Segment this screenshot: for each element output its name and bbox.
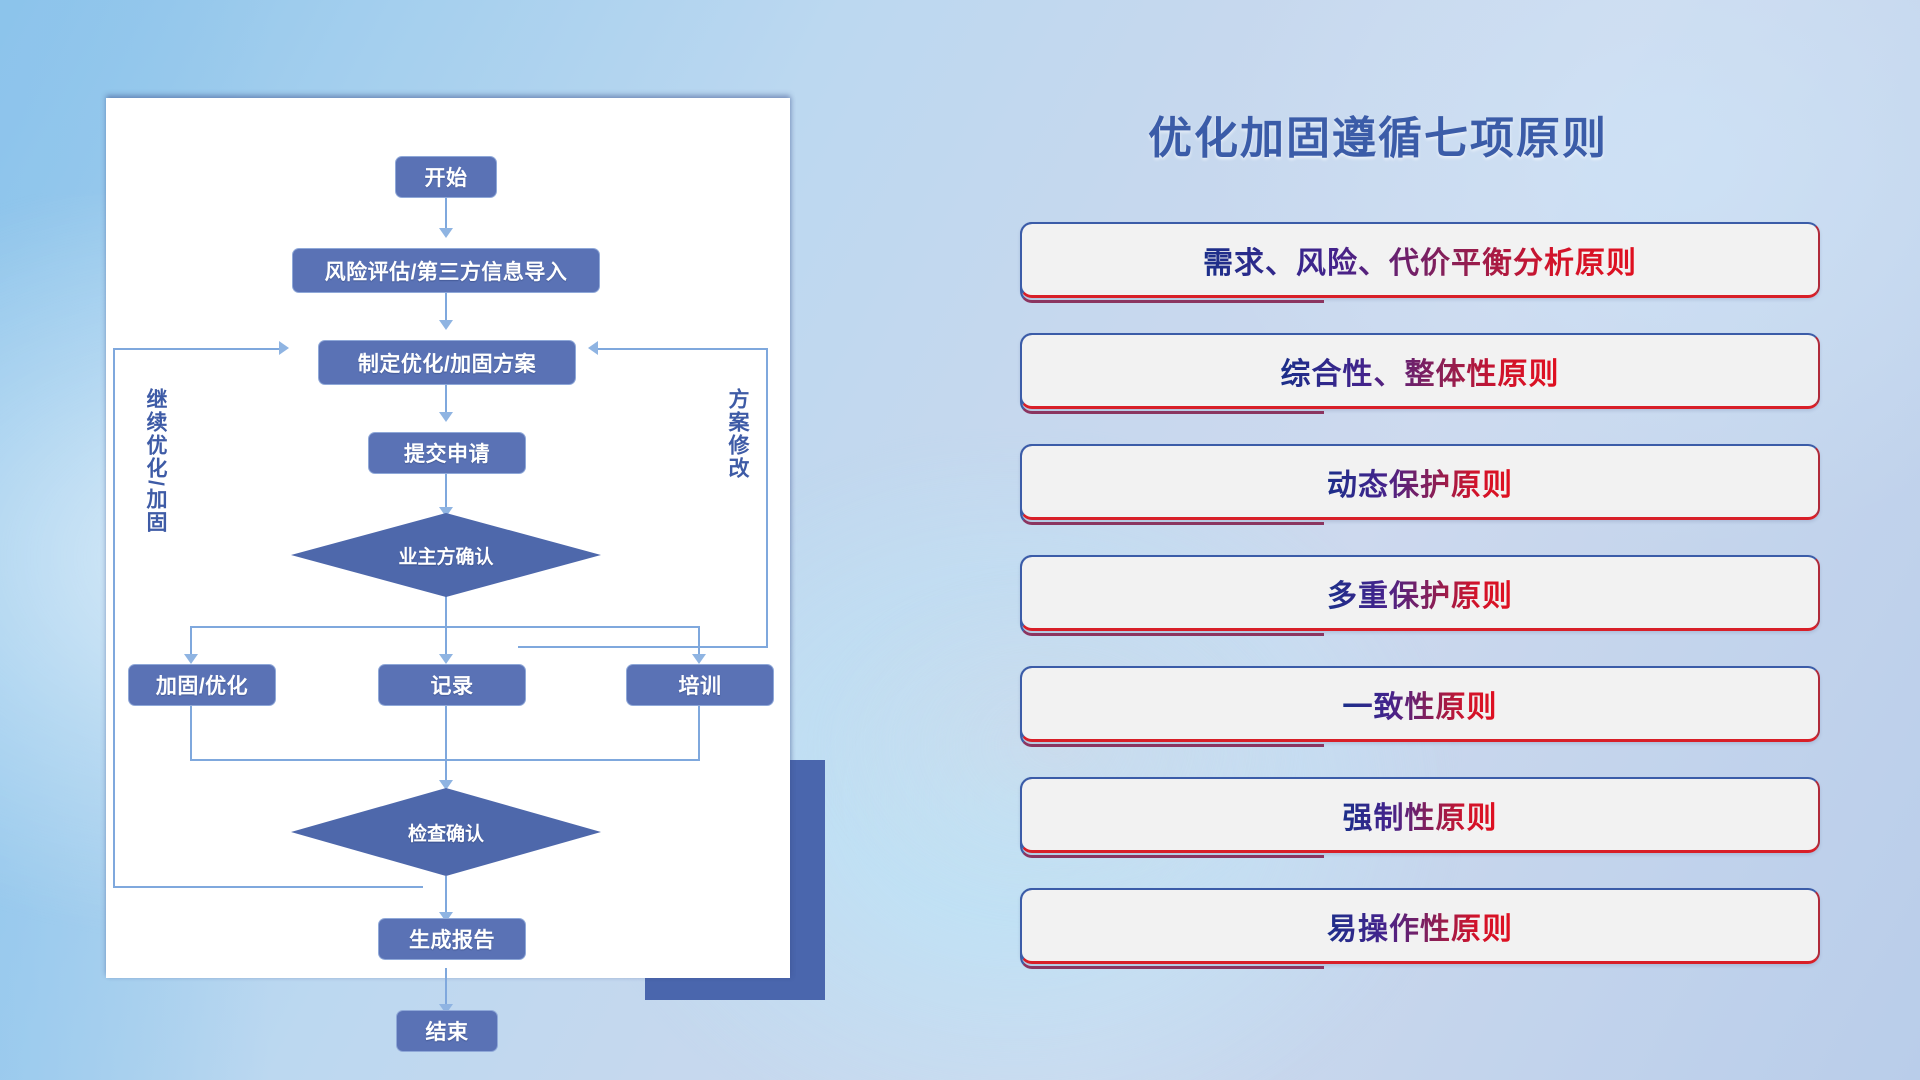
flow-node-plan-label: 制定优化/加固方案	[358, 348, 536, 378]
left-loop-bottom	[113, 886, 423, 888]
principle-item[interactable]: 多重保护原则	[1020, 555, 1820, 631]
panel-title: 优化加固遵循七项原则	[1148, 102, 1608, 166]
slide-root: 继续优化/加固 方案修改 开始	[0, 0, 1920, 1080]
principle-item-label: 一致性原则	[1343, 682, 1498, 726]
principles-list: 需求、风险、代价平衡分析原则 综合性、整体性原则 动态保护原则 多重保护原则 一…	[1020, 222, 1820, 999]
flow-node-risk-assessment[interactable]: 风险评估/第三方信息导入	[292, 248, 600, 293]
flow-node-training-label: 培训	[679, 670, 722, 700]
right-loop-bottom	[518, 646, 768, 648]
arrow-fan-mid-icon	[439, 654, 453, 664]
principle-item-label: 易操作性原则	[1327, 904, 1513, 948]
conn-merge-left	[190, 706, 192, 761]
arrow-start-to-risk-icon	[439, 228, 453, 238]
left-loop-arrow-icon	[279, 341, 289, 355]
flowchart-card: 继续优化/加固 方案修改 开始	[106, 98, 790, 978]
principle-item-label: 强制性原则	[1343, 793, 1498, 837]
left-loop-top	[113, 348, 281, 350]
flow-node-reinforce[interactable]: 加固/优化	[128, 664, 276, 706]
flow-decision-check-confirm[interactable]: 检查确认	[291, 788, 601, 876]
flow-node-plan[interactable]: 制定优化/加固方案	[318, 340, 576, 385]
edge-label-continue-optimize: 继续优化/加固	[140, 388, 170, 534]
flow-node-start-label: 开始	[425, 162, 468, 192]
principle-item-label: 多重保护原则	[1327, 571, 1513, 615]
principle-item-label: 动态保护原则	[1327, 460, 1513, 504]
principles-panel: 优化加固遵循七项原则 需求、风险、代价平衡分析原则 综合性、整体性原则 动态保护…	[1020, 92, 1860, 992]
flow-node-report[interactable]: 生成报告	[378, 918, 526, 960]
principle-item-label: 需求、风险、代价平衡分析原则	[1203, 238, 1637, 282]
flow-node-end[interactable]: 结束	[396, 1010, 498, 1052]
flow-decision-owner-confirm-label: 业主方确认	[398, 542, 493, 569]
flow-decision-owner-confirm[interactable]: 业主方确认	[291, 513, 601, 597]
left-loop-vertical	[113, 348, 115, 888]
flow-node-report-label: 生成报告	[409, 924, 495, 954]
flow-decision-check-confirm-label: 检查确认	[408, 819, 484, 846]
principle-item[interactable]: 易操作性原则	[1020, 888, 1820, 964]
principle-item[interactable]: 强制性原则	[1020, 777, 1820, 853]
principle-item[interactable]: 需求、风险、代价平衡分析原则	[1020, 222, 1820, 298]
principle-item-label: 综合性、整体性原则	[1281, 349, 1560, 393]
flow-node-reinforce-label: 加固/优化	[156, 670, 248, 700]
arrow-plan-to-submit-icon	[439, 412, 453, 422]
principle-item[interactable]: 一致性原则	[1020, 666, 1820, 742]
flow-node-start[interactable]: 开始	[395, 156, 497, 198]
conn-merge-right	[698, 706, 700, 761]
arrow-fan-right-icon	[692, 654, 706, 664]
arrow-risk-to-plan-icon	[439, 320, 453, 330]
flow-node-end-label: 结束	[426, 1016, 469, 1046]
flow-node-risk-assessment-label: 风险评估/第三方信息导入	[325, 256, 568, 286]
flow-node-submit[interactable]: 提交申请	[368, 432, 526, 474]
right-loop-vertical	[766, 348, 768, 648]
right-loop-arrow-icon	[588, 341, 598, 355]
right-loop-top	[598, 348, 768, 350]
principle-item[interactable]: 动态保护原则	[1020, 444, 1820, 520]
conn-merge-mid	[445, 706, 447, 786]
arrow-fan-left-icon	[184, 654, 198, 664]
flow-node-training[interactable]: 培训	[626, 664, 774, 706]
principle-item[interactable]: 综合性、整体性原则	[1020, 333, 1820, 409]
flow-node-record[interactable]: 记录	[378, 664, 526, 706]
edge-label-plan-revision: 方案修改	[722, 388, 752, 480]
flow-node-record-label: 记录	[431, 670, 474, 700]
flow-node-submit-label: 提交申请	[404, 438, 490, 468]
